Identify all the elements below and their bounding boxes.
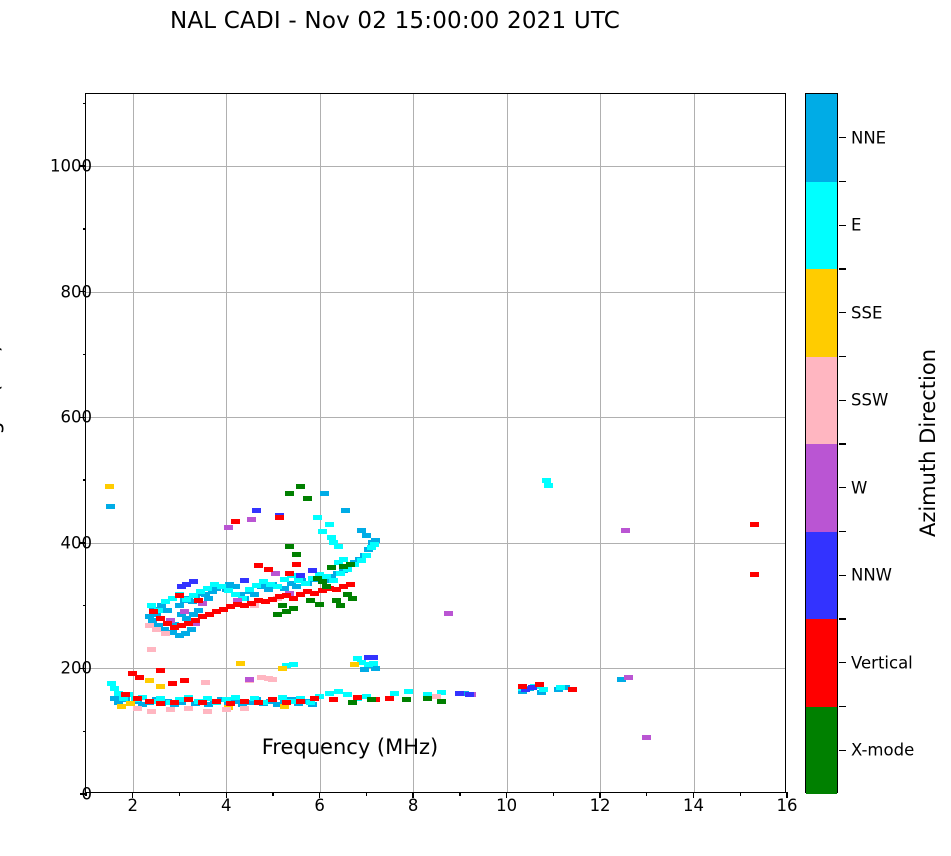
data-point (535, 682, 544, 687)
data-point (357, 558, 366, 563)
data-point (203, 709, 212, 714)
x-tick-label: 12 (577, 796, 623, 815)
figure-title: NAL CADI - Nov 02 15:00:00 2021 UTC (0, 8, 790, 34)
colorbar-boundary-tick (839, 531, 846, 532)
y-tick-minor (83, 479, 87, 480)
data-point (106, 504, 115, 509)
colorbar-label-vertical: Vertical (851, 653, 913, 672)
x-tick-label: 4 (203, 796, 249, 815)
data-point (313, 515, 322, 520)
data-point (544, 483, 553, 488)
data-point (201, 680, 210, 685)
data-point (189, 579, 198, 584)
data-point (285, 491, 294, 496)
data-point (194, 608, 203, 613)
colorbar-tick (839, 750, 846, 751)
data-point (568, 687, 577, 692)
data-point (147, 647, 156, 652)
colorbar-tick (839, 400, 846, 401)
colorbar-label-e: E (851, 216, 861, 235)
data-point (292, 562, 301, 567)
data-point (184, 697, 193, 702)
data-point (252, 508, 261, 513)
data-point (310, 696, 319, 701)
colorbar-boundary-tick (839, 181, 846, 182)
data-point (325, 522, 334, 527)
data-point (343, 692, 352, 697)
colorbar-segment-ssw (806, 357, 837, 445)
data-point (318, 529, 327, 534)
data-point (145, 699, 154, 704)
data-point (624, 675, 633, 680)
y-tick-minor (83, 605, 87, 606)
colorbar-label-w: W (851, 478, 867, 497)
x-axis-title: Frequency (MHz) (262, 735, 438, 759)
data-point (180, 678, 189, 683)
data-point (308, 568, 317, 573)
data-point (369, 655, 378, 660)
data-point (175, 593, 184, 598)
data-point (168, 681, 177, 686)
data-point (268, 677, 277, 682)
data-point (334, 544, 343, 549)
x-tick-minor (646, 792, 647, 796)
data-point (642, 735, 651, 740)
x-tick-minor (740, 792, 741, 796)
data-point (250, 592, 259, 597)
data-point (306, 598, 315, 603)
data-point (539, 687, 548, 692)
data-point (346, 562, 355, 567)
data-point (222, 707, 231, 712)
ionogram-figure: NAL CADI - Nov 02 15:00:00 2021 UTC 2468… (0, 0, 951, 856)
data-point (117, 704, 126, 709)
y-tick-label: 600 (32, 408, 92, 427)
data-point (177, 584, 186, 589)
data-point (156, 668, 165, 673)
colorbar-tick (839, 662, 846, 663)
colorbar-boundary-tick (839, 443, 846, 444)
data-point (285, 544, 294, 549)
colorbar-label-nnw: NNW (851, 566, 892, 585)
data-point (240, 699, 249, 704)
data-point (750, 572, 759, 577)
data-point (161, 631, 170, 636)
data-point (184, 706, 193, 711)
data-point (133, 696, 142, 701)
data-points-layer (86, 94, 785, 792)
colorbar-label-nne: NNE (851, 128, 886, 147)
data-point (170, 700, 179, 705)
colorbar-tick (839, 137, 846, 138)
data-point (145, 678, 154, 683)
colorbar-boundary-tick (839, 356, 846, 357)
colorbar-tick (839, 312, 846, 313)
data-point (296, 699, 305, 704)
data-point (329, 697, 338, 702)
data-point (224, 525, 233, 530)
data-point (315, 602, 324, 607)
colorbar-segment-vertical (806, 619, 837, 707)
data-point (121, 692, 130, 697)
data-point (212, 699, 221, 704)
data-point (282, 609, 291, 614)
colorbar-boundary-tick (839, 618, 846, 619)
data-point (289, 662, 298, 667)
data-point (245, 677, 254, 682)
x-tick-label: 10 (484, 796, 530, 815)
colorbar-segment-w (806, 444, 837, 532)
data-point (292, 552, 301, 557)
x-tick-minor (366, 792, 367, 796)
y-tick-minor (83, 731, 87, 732)
data-point (254, 563, 263, 568)
colorbar-label-x-mode: X-mode (851, 741, 914, 760)
y-tick-label: 0 (32, 785, 92, 804)
data-point (350, 662, 359, 667)
colorbar-label-sse: SSE (851, 303, 882, 322)
data-point (180, 609, 189, 614)
data-point (278, 666, 287, 671)
data-point (240, 578, 249, 583)
x-tick-label: 6 (297, 796, 343, 815)
data-point (264, 567, 273, 572)
colorbar-tick (839, 487, 846, 488)
data-point (341, 508, 350, 513)
colorbar: NNEESSESSWWNNWVerticalX-mode (805, 93, 838, 793)
data-point (156, 701, 165, 706)
colorbar-boundary-tick (839, 268, 846, 269)
data-point (303, 496, 312, 501)
colorbar-tick (839, 225, 846, 226)
y-tick-minor (83, 228, 87, 229)
data-point (437, 699, 446, 704)
colorbar-segment-sse (806, 269, 837, 357)
data-point (175, 603, 184, 608)
data-point (257, 675, 266, 680)
colorbar-label-ssw: SSW (851, 391, 888, 410)
colorbar-tick (839, 575, 846, 576)
data-point (268, 697, 277, 702)
y-tick-label: 400 (32, 533, 92, 552)
x-tick-minor (272, 792, 273, 796)
y-tick-label: 200 (32, 659, 92, 678)
data-point (187, 627, 196, 632)
data-point (231, 695, 240, 700)
data-point (292, 584, 301, 589)
data-point (149, 609, 158, 614)
data-point (322, 584, 331, 589)
data-point (264, 587, 273, 592)
data-point (556, 685, 565, 690)
data-point (247, 517, 256, 522)
data-point (327, 565, 336, 570)
data-point (621, 528, 630, 533)
data-point (296, 573, 305, 578)
data-point (518, 684, 527, 689)
data-point (423, 696, 432, 701)
data-point (750, 522, 759, 527)
y-tick-minor (83, 103, 87, 104)
data-point (156, 684, 165, 689)
data-point (194, 598, 203, 603)
data-point (367, 697, 376, 702)
colorbar-title: Azimuth Direction (916, 349, 940, 537)
colorbar-boundary-tick (839, 706, 846, 707)
data-point (353, 656, 362, 661)
x-tick-label: 8 (390, 796, 436, 815)
data-point (273, 612, 282, 617)
data-point (254, 700, 263, 705)
y-tick-minor (83, 354, 87, 355)
y-tick-label: 800 (32, 282, 92, 301)
y-tick-label: 1000 (32, 157, 92, 176)
colorbar-segment-x-mode (806, 707, 837, 795)
data-point (296, 484, 305, 489)
x-tick-label: 16 (764, 796, 810, 815)
data-point (402, 697, 411, 702)
data-point (147, 709, 156, 714)
data-point (163, 608, 172, 613)
data-point (275, 515, 284, 520)
data-point (334, 689, 343, 694)
data-point (362, 533, 371, 538)
data-point (152, 627, 161, 632)
data-point (320, 491, 329, 496)
data-point (278, 603, 287, 608)
x-tick-minor (553, 792, 554, 796)
data-point (231, 519, 240, 524)
data-point (226, 701, 235, 706)
data-point (348, 596, 357, 601)
plot-area: 24681012141602004006008001000 (85, 93, 786, 793)
data-point (325, 691, 334, 696)
data-point (273, 584, 282, 589)
colorbar-segment-e (806, 182, 837, 270)
colorbar-segment-nne (806, 94, 837, 182)
data-point (301, 581, 310, 586)
x-tick-label: 14 (671, 796, 717, 815)
data-point (370, 542, 379, 547)
x-tick-label: 2 (110, 796, 156, 815)
x-tick-minor (459, 792, 460, 796)
data-point (346, 582, 355, 587)
data-point (282, 700, 291, 705)
x-tick-minor (179, 792, 180, 796)
y-axis-title: Virtual height (km) (0, 344, 4, 542)
data-point (455, 691, 464, 696)
data-point (404, 689, 413, 694)
data-point (198, 700, 207, 705)
data-point (336, 603, 345, 608)
data-point (133, 706, 142, 711)
data-point (348, 700, 357, 705)
data-point (362, 553, 371, 558)
data-point (236, 661, 245, 666)
data-point (135, 675, 144, 680)
data-point (105, 484, 114, 489)
data-point (465, 692, 474, 697)
data-point (166, 707, 175, 712)
data-point (285, 571, 294, 576)
data-point (444, 611, 453, 616)
data-point (369, 661, 378, 666)
data-point (240, 706, 249, 711)
data-point (385, 696, 394, 701)
data-point (329, 578, 338, 583)
colorbar-segment-nnw (806, 532, 837, 620)
